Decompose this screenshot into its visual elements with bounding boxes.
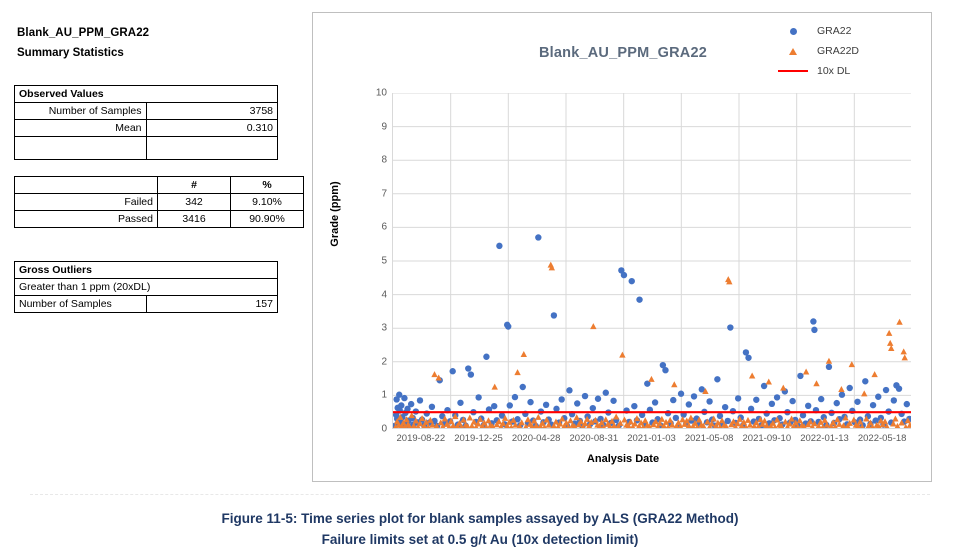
x-axis-title: Analysis Date <box>313 453 933 465</box>
panel-title: Blank_AU_PPM_GRA22 <box>17 26 299 40</box>
y-axis-tick: 4 <box>357 289 387 300</box>
panel-subtitle: Summary Statistics <box>17 46 299 60</box>
x-axis-tick: 2020-08-31 <box>570 433 619 444</box>
page-divider <box>30 494 930 495</box>
plot-area <box>392 93 911 429</box>
figure-caption: Figure 11-5: Time series plot for blank … <box>60 508 900 550</box>
chart-container: Blank_AU_PPM_GRA22 GRA22 GRA22D 10x DL G… <box>312 12 932 482</box>
x-axis-tick: 2019-12-25 <box>454 433 503 444</box>
row-label: Mean <box>15 120 147 137</box>
y-axis-tick: 3 <box>357 323 387 334</box>
line-marker-icon <box>773 70 813 72</box>
x-axis-tick: 2021-01-03 <box>627 433 676 444</box>
gross-outliers-table: Gross Outliers Greater than 1 ppm (20xDL… <box>14 261 278 313</box>
triangle-marker-icon <box>773 48 813 55</box>
row-value <box>146 137 278 160</box>
y-axis-tick-labels: 012345678910 <box>353 93 387 429</box>
table-row: Greater than 1 ppm (20xDL) <box>15 279 278 296</box>
row-value: 3758 <box>146 103 278 120</box>
circle-marker-icon <box>773 28 813 35</box>
legend-item-10x-dl[interactable]: 10x DL <box>773 61 913 81</box>
chart-legend: GRA22 GRA22D 10x DL <box>773 21 913 81</box>
row-label: Passed <box>15 211 158 228</box>
y-axis-tick: 5 <box>357 256 387 267</box>
y-axis-tick: 8 <box>357 155 387 166</box>
x-axis-tick: 2021-09-10 <box>743 433 792 444</box>
table-row: Number of Samples 3758 <box>15 103 278 120</box>
legend-item-gra22d[interactable]: GRA22D <box>773 41 913 61</box>
row-percent: 9.10% <box>231 194 304 211</box>
y-axis-tick: 2 <box>357 356 387 367</box>
y-axis-tick: 6 <box>357 222 387 233</box>
pass-fail-table: # % Failed 342 9.10% Passed 3416 90.90% <box>14 176 304 228</box>
x-axis-tick: 2022-01-13 <box>800 433 849 444</box>
pass-fail-header-blank <box>15 177 158 194</box>
row-percent: 90.90% <box>231 211 304 228</box>
legend-item-gra22[interactable]: GRA22 <box>773 21 913 41</box>
row-label: Number of Samples <box>15 103 147 120</box>
table-row: Mean 0.310 <box>15 120 278 137</box>
legend-label: 10x DL <box>813 65 850 77</box>
x-axis-tick-labels: 2019-08-222019-12-252020-04-282020-08-31… <box>392 433 911 449</box>
row-label <box>15 137 147 160</box>
x-axis-tick: 2019-08-22 <box>397 433 446 444</box>
table-row <box>15 137 278 160</box>
gross-outliers-count-value: 157 <box>146 296 278 313</box>
summary-panel: Blank_AU_PPM_GRA22 Summary Statistics Ob… <box>14 26 299 60</box>
observed-values-header: Observed Values <box>15 86 278 103</box>
caption-line-1: Figure 11-5: Time series plot for blank … <box>60 508 900 529</box>
y-axis-tick: 9 <box>357 121 387 132</box>
legend-label: GRA22 <box>813 25 851 37</box>
y-axis-tick: 0 <box>357 424 387 435</box>
row-value: 0.310 <box>146 120 278 137</box>
pass-fail-header-percent: % <box>231 177 304 194</box>
pass-fail-header-count: # <box>158 177 231 194</box>
table-row: Gross Outliers <box>15 262 278 279</box>
row-count: 3416 <box>158 211 231 228</box>
y-axis-tick: 10 <box>357 88 387 99</box>
row-count: 342 <box>158 194 231 211</box>
table-row: # % <box>15 177 304 194</box>
table-row: Observed Values <box>15 86 278 103</box>
table-row: Failed 342 9.10% <box>15 194 304 211</box>
observed-values-table: Observed Values Number of Samples 3758 M… <box>14 85 278 160</box>
table-row: Number of Samples 157 <box>15 296 278 313</box>
legend-label: GRA22D <box>813 45 859 57</box>
row-label: Failed <box>15 194 158 211</box>
y-axis-tick: 7 <box>357 188 387 199</box>
table-row: Passed 3416 90.90% <box>15 211 304 228</box>
gross-outliers-header: Gross Outliers <box>15 262 278 279</box>
scatter-plot-svg <box>393 93 911 429</box>
y-axis-tick: 1 <box>357 390 387 401</box>
gross-outliers-count-label: Number of Samples <box>15 296 147 313</box>
caption-line-2: Failure limits set at 0.5 g/t Au (10x de… <box>60 529 900 550</box>
x-axis-tick: 2020-04-28 <box>512 433 561 444</box>
x-axis-tick: 2022-05-18 <box>858 433 907 444</box>
y-axis-title: Grade (ppm) <box>329 144 341 284</box>
x-axis-tick: 2021-05-08 <box>685 433 734 444</box>
gross-outliers-criterion: Greater than 1 ppm (20xDL) <box>15 279 278 296</box>
